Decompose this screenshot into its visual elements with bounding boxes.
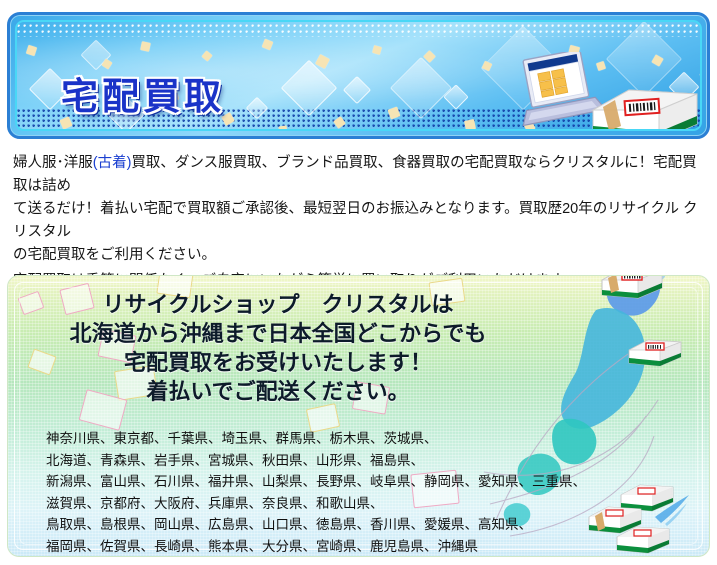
headline-line-4: 着払いでご配送ください。 <box>8 377 548 406</box>
prefecture-row: 神奈川県、東京都、千葉県、埼玉県、群馬県、栃木県、茨城県、 <box>46 428 606 450</box>
intro-line-2: て送るだけ！着払い宅配で買取額ご承認後、最短翌日のお振込みとなります。買取歴20… <box>13 198 707 244</box>
prefecture-row: 福岡県、佐賀県、長崎県、熊本県、大分県、宮崎県、鹿児島県、沖縄県 <box>46 536 606 558</box>
nationwide-service-panel: リサイクルショップ クリスタルは 北海道から沖縄まで日本全国どこからでも 宅配買… <box>7 275 710 557</box>
prefecture-row: 鳥取県、島根県、岡山県、広島県、山口県、徳島県、香川県、愛媛県、高知県、 <box>46 514 606 536</box>
prefecture-row: 北海道、青森県、岩手県、宮城県、秋田県、山形県、福島県、 <box>46 450 606 472</box>
parcel-box-icon <box>598 275 666 302</box>
prefecture-row: 滋賀県、京都府、大阪府、兵庫県、奈良県、和歌山県、 <box>46 493 606 515</box>
prefecture-list: 神奈川県、東京都、千葉県、埼玉県、群馬県、栃木県、茨城県、 北海道、青森県、岩手… <box>46 428 606 557</box>
prefecture-row: 新潟県、富山県、石川県、福井県、山梨県、長野県、岐阜県、静岡県、愛知県、三重県、 <box>46 471 606 493</box>
headline-line-2: 北海道から沖縄まで日本全国どこからでも <box>8 319 548 348</box>
panel-headline: リサイクルショップ クリスタルは 北海道から沖縄まで日本全国どこからでも 宅配買… <box>8 290 548 406</box>
banner-inner-frame: 宅配買取 <box>15 20 702 131</box>
headline-line-1: リサイクルショップ クリスタルは <box>8 290 548 319</box>
banner-title: 宅配買取 <box>61 66 225 120</box>
intro-line-1: 婦人服･洋服(古着)買取、ダンス服買取、ブランド品買取、食器買取の宅配買取ならク… <box>13 152 707 198</box>
page-banner: 宅配買取 <box>7 12 710 139</box>
used-clothes-link[interactable]: (古着) <box>93 155 132 171</box>
delivery-swoosh-icon <box>653 491 693 527</box>
headline-line-3: 宅配買取をお受けいたします！ <box>8 348 548 377</box>
parcel-box-icon <box>585 84 702 131</box>
parcel-box-icon <box>626 336 684 369</box>
page-root: 宅配買取 婦人服･洋服(古着)買取、ダンス服買取、ブランド品買取、食器買取の宅配… <box>0 0 717 565</box>
intro-line-3: の宅配買取をご利用ください。 <box>13 244 707 267</box>
intro-line-1-a: 婦人服･洋服 <box>13 155 93 171</box>
